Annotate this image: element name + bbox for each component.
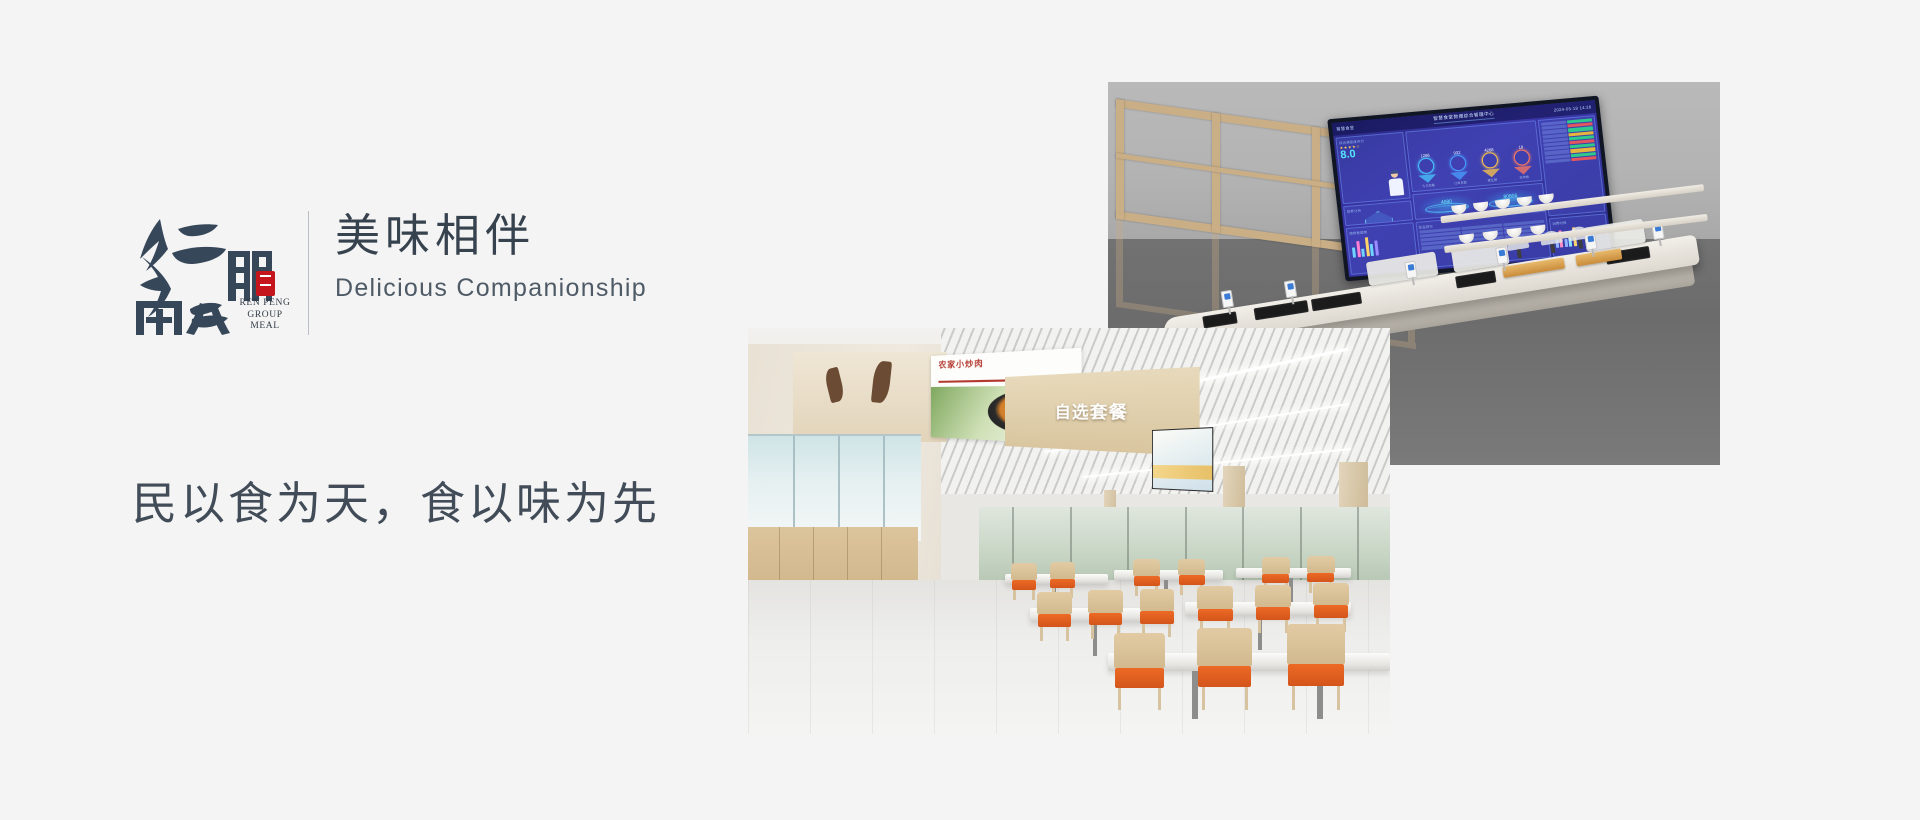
brand-subtitle: Delicious Companionship (335, 271, 647, 305)
kpi-item: 932 订单总数 (1446, 149, 1472, 186)
leaf-decor-icon (823, 367, 846, 404)
glass-partition (748, 434, 921, 542)
seal-line-1: REN PENG (234, 298, 296, 310)
station-sign-text: 自选套餐 (1055, 399, 1129, 424)
dining-chair (1114, 633, 1165, 710)
dashboard-header-right: 2024-05-18 14:26 (1553, 104, 1591, 112)
kpi-row: 1286 今日就餐 932 订单总数 426 (1408, 123, 1539, 189)
dining-chair (1140, 589, 1175, 638)
company-logo: REN PENG GROUP MEAL (130, 205, 280, 335)
wall-mounted-tv[interactable] (1152, 427, 1213, 492)
brand-title: 美味相伴 (335, 207, 647, 265)
status-table (1541, 118, 1597, 163)
wall-decor-panel (793, 352, 947, 441)
logo-seal-group: REN PENG GROUP MEAL (234, 271, 296, 333)
electronic-price-tag (1221, 290, 1235, 309)
dining-table (1114, 570, 1223, 581)
cafeteria-interior-image: 农家小炒肉 自选套餐 (748, 328, 1390, 734)
dining-chair (1255, 585, 1291, 634)
kpi-card: 1286 今日就餐 932 订单总数 426 (1405, 120, 1543, 192)
kpi-item: 18 退单数 (1510, 144, 1536, 181)
kpi-item: 1286 今日就餐 (1414, 152, 1440, 189)
dining-chair (1037, 592, 1072, 641)
dining-chair (1197, 628, 1252, 709)
leaf-decor-icon (871, 361, 892, 405)
chef-avatar-icon (1386, 170, 1405, 197)
kpi-item: 4268 营业额 (1478, 147, 1504, 184)
red-seal-icon (256, 271, 275, 296)
brand-divider (308, 211, 309, 335)
electronic-price-tag (1284, 280, 1298, 299)
page-slogan: 民以食为天，食以味为先 (132, 475, 660, 533)
menu-ad-title: 农家小炒肉 (939, 358, 984, 371)
dining-chair (1287, 624, 1345, 709)
banner-root: REN PENG GROUP MEAL 美味相伴 Delicious Compa… (0, 0, 1920, 820)
brand-text-group: 美味相伴 Delicious Companionship (335, 205, 647, 305)
dining-chair (1011, 563, 1037, 600)
dashboard-header-left: 智慧食堂 (1336, 125, 1355, 133)
nutrition-card: 营养分析 (1343, 200, 1413, 226)
seal-line-2: GROUP (234, 310, 296, 322)
radar-value: 80806 (1480, 191, 1542, 202)
satisfaction-card: 综合满意度评分 ★★★★☆ 8.0 (1335, 132, 1410, 204)
radar-value: 4680 (1416, 197, 1478, 208)
brand-block: REN PENG GROUP MEAL 美味相伴 Delicious Compa… (130, 205, 647, 335)
seal-line-3: MEAL (234, 321, 296, 333)
